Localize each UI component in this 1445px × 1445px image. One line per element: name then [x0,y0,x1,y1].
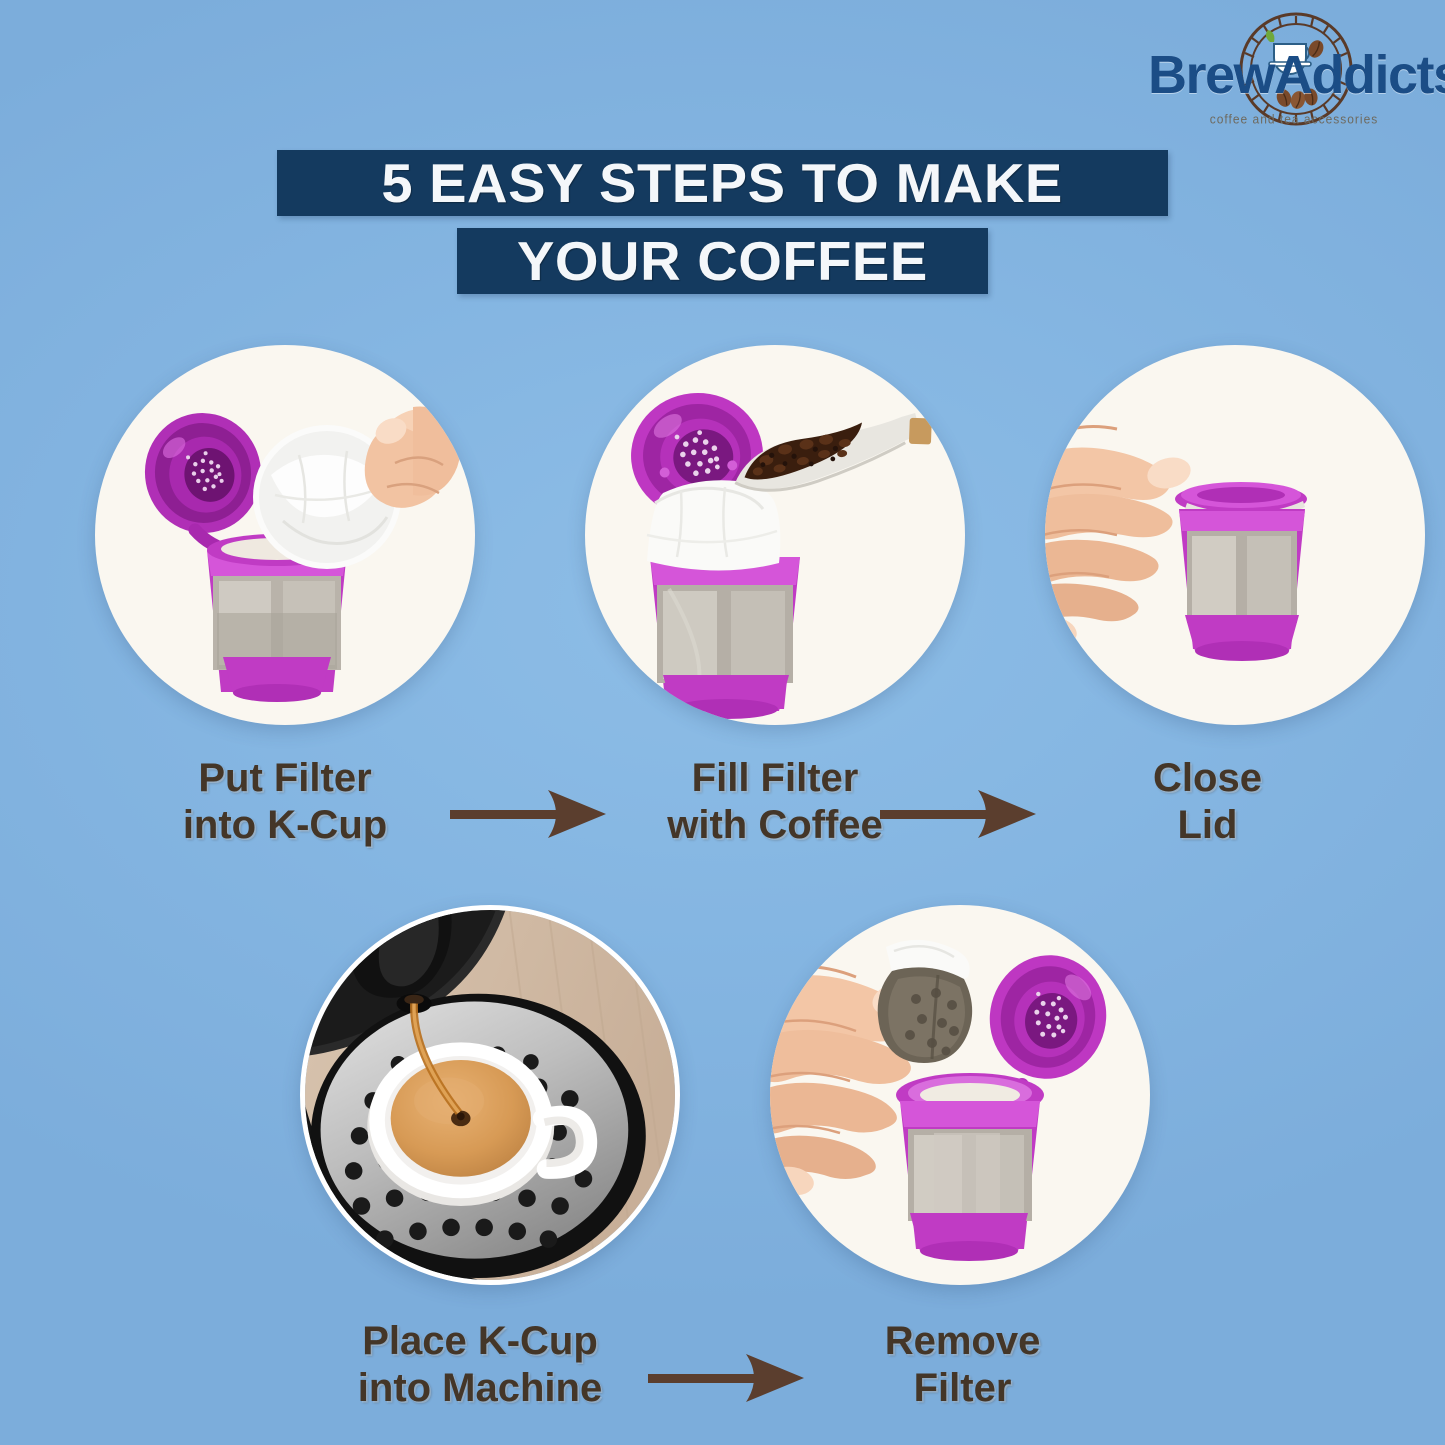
step-4-label: Place K-Cup into Machine [290,1318,670,1412]
step-3-label-line1: Close [1045,755,1370,802]
step-2-image [585,345,965,725]
brand-name: BrewAddicts [1148,48,1440,102]
step-2-label-line2: with Coffee [585,802,965,849]
step-5-image [770,905,1150,1285]
step-2-illustration [585,345,965,725]
step-5-label-line1: Remove [790,1318,1135,1365]
step-5-illustration [770,905,1150,1285]
step-3-label: Close Lid [1045,755,1370,849]
step-4-label-line2: into Machine [290,1365,670,1412]
infographic-canvas: BrewAddicts coffee and tea accessories 5… [0,0,1445,1445]
step-4-label-line1: Place K-Cup [290,1318,670,1365]
title-line2-text: YOUR COFFEE [517,234,928,289]
step-4-image [300,905,680,1285]
step-5-label: Remove Filter [790,1318,1135,1412]
step-3-label-line2: Lid [1045,802,1370,849]
step-1-label-line2: into K-Cup [95,802,475,849]
title-line1-text: 5 EASY STEPS TO MAKE [382,156,1064,211]
step-2-label-line1: Fill Filter [585,755,965,802]
step-1-label: Put Filter into K-Cup [95,755,475,849]
title-banner-line2: YOUR COFFEE [457,228,988,294]
step-3-illustration [1045,345,1425,725]
step-1-label-line1: Put Filter [95,755,475,802]
step-1-image [95,345,475,725]
brand-logo: BrewAddicts coffee and tea accessories [1148,8,1440,144]
arrow-step4-to-step5-icon [648,1348,808,1410]
title-banner-line1: 5 EASY STEPS TO MAKE [277,150,1168,216]
step-5-label-line2: Filter [790,1365,1135,1412]
step-2-label: Fill Filter with Coffee [585,755,965,849]
step-3-image [1045,345,1425,725]
step-1-illustration [95,345,475,725]
brand-tagline: coffee and tea accessories [1148,111,1440,126]
step-4-illustration [305,910,675,1280]
